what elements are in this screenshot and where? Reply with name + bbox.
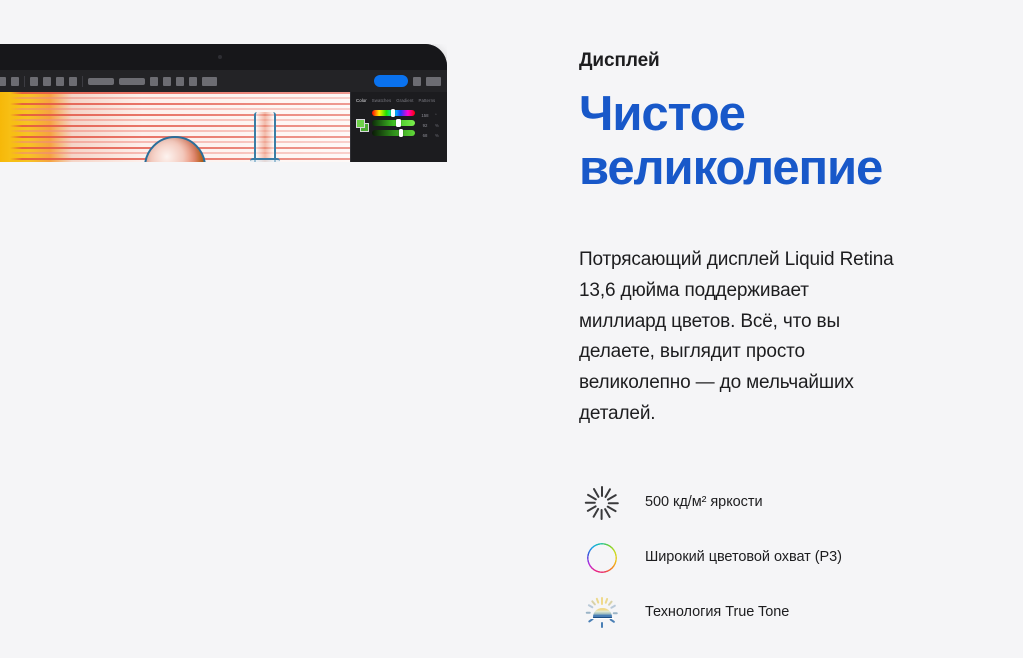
list-item: Технология True Tone — [579, 585, 979, 640]
feature-list: 500 кд/м² яркости Широкий цветовой охват… — [579, 475, 979, 640]
tool-distribute-icon[interactable] — [69, 77, 77, 86]
tool-select-icon[interactable] — [11, 77, 19, 86]
artwork-glass-tube — [254, 112, 276, 162]
saturation-unit: % — [435, 123, 442, 128]
tool-align-left-icon[interactable] — [30, 77, 38, 86]
tool-crop-icon[interactable] — [163, 77, 171, 86]
list-item: 500 кд/м² яркости — [579, 475, 979, 530]
body-paragraph: Потрясающий дисплей Liquid Retina 13,6 д… — [579, 245, 899, 431]
list-item: Широкий цветовой охват (P3) — [579, 530, 979, 585]
tool-move-icon[interactable] — [0, 77, 6, 86]
app-toolbar — [0, 70, 447, 92]
hue-slider-row: 158 ° — [372, 110, 442, 120]
page-title: Чистое великолепие — [579, 88, 909, 196]
brightness-slider[interactable] — [372, 130, 415, 136]
true-tone-icon — [579, 596, 625, 630]
tool-stroke-width-icon[interactable] — [88, 78, 114, 85]
artwork-glass-sphere — [144, 136, 206, 162]
color-controls-row: 158 ° 92 % 68 — [356, 110, 442, 140]
tool-rotate-icon[interactable] — [150, 77, 158, 86]
inspector-tab-color[interactable]: Color — [356, 98, 367, 103]
tool-mask-icon[interactable] — [176, 77, 184, 86]
panel-toggle-icon[interactable] — [426, 77, 441, 86]
hero-media: Color Swatches Gradient Patterns 158 — [0, 44, 447, 162]
color-inspector-panel: Color Swatches Gradient Patterns 158 — [350, 92, 447, 162]
color-gamut-wheel-icon — [579, 543, 625, 573]
saturation-slider-knob[interactable] — [396, 119, 401, 127]
tool-more-icon[interactable] — [202, 77, 217, 86]
inspector-tab-gradient[interactable]: Gradient — [396, 98, 413, 103]
laptop-device-image: Color Swatches Gradient Patterns 158 — [0, 44, 447, 162]
brightness-burst-glyph — [585, 486, 619, 520]
tool-zoom-field[interactable] — [119, 78, 145, 85]
camera-icon — [218, 55, 222, 59]
feature-label: 500 кд/м² яркости — [645, 493, 763, 512]
true-tone-baseline — [591, 618, 614, 619]
hue-unit: ° — [435, 113, 442, 118]
artwork-tube-band — [250, 158, 280, 162]
feature-label: Технология True Tone — [645, 603, 789, 622]
artwork-canvas — [0, 92, 350, 162]
hue-slider-knob[interactable] — [391, 109, 396, 117]
inspector-tab-swatches[interactable]: Swatches — [372, 98, 391, 103]
tool-align-right-icon[interactable] — [56, 77, 64, 86]
color-sliders: 158 ° 92 % 68 — [372, 110, 442, 140]
saturation-value: 92 — [417, 123, 433, 128]
inspector-tabs: Color Swatches Gradient Patterns — [356, 98, 442, 103]
swatch-foreground — [356, 119, 365, 128]
brightness-unit: % — [435, 133, 442, 138]
hue-value: 158 — [417, 113, 433, 118]
inspector-tab-patterns[interactable]: Patterns — [419, 98, 436, 103]
artwork-yellow-band — [0, 92, 22, 162]
saturation-slider[interactable] — [372, 120, 415, 126]
copy-column: Дисплей Чистое великолепие Потрясающий д… — [579, 50, 979, 640]
laptop-titlebar — [0, 44, 447, 70]
feature-label: Широкий цветовой охват (P3) — [645, 548, 842, 567]
brightness-value: 68 — [417, 133, 433, 138]
hue-slider[interactable] — [372, 110, 415, 116]
saturation-slider-row: 92 % — [372, 120, 442, 130]
true-tone-glyph — [585, 596, 619, 630]
brightness-burst-icon — [579, 486, 625, 520]
search-icon[interactable] — [413, 77, 421, 86]
toolbar-divider — [82, 76, 83, 87]
brightness-slider-row: 68 % — [372, 130, 442, 140]
color-gamut-wheel-glyph — [587, 543, 617, 573]
toolbar-divider — [24, 76, 25, 87]
color-swatch-stack[interactable] — [356, 119, 369, 132]
true-tone-stem — [601, 622, 603, 628]
tool-effects-icon[interactable] — [189, 77, 197, 86]
section-eyebrow: Дисплей — [579, 50, 979, 73]
share-button[interactable] — [374, 75, 408, 87]
tool-align-center-icon[interactable] — [43, 77, 51, 86]
brightness-slider-knob[interactable] — [399, 129, 404, 137]
